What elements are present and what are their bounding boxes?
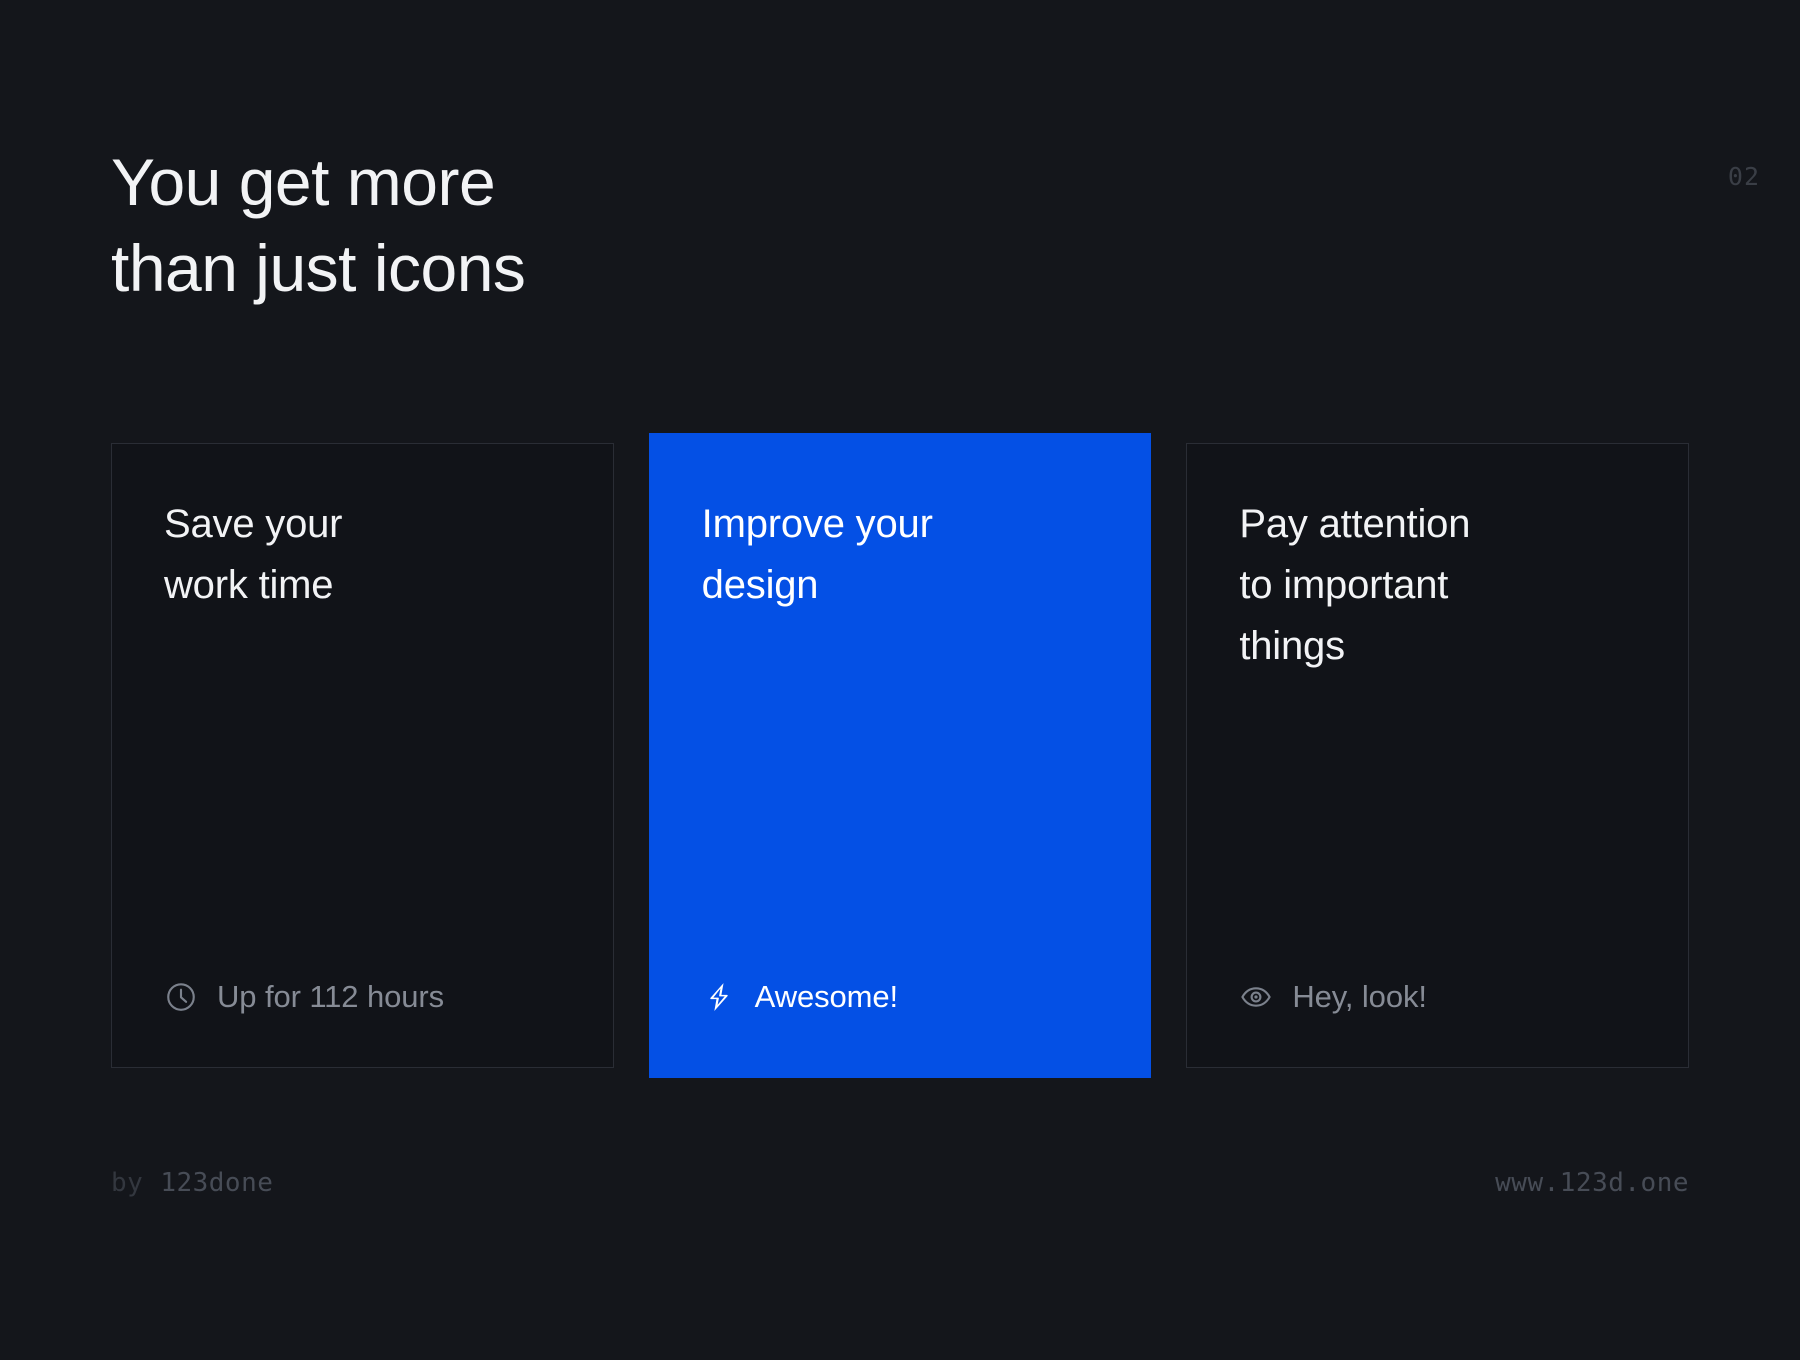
feature-card-list: Save your work time Up for 112 hours Imp… xyxy=(111,443,1689,1068)
card-footer: Awesome! xyxy=(702,979,1101,1015)
website-url[interactable]: www.123d.one xyxy=(1495,1168,1689,1198)
feature-card-improve-your-design[interactable]: Improve your design Awesome! xyxy=(649,433,1152,1078)
page-number: 02 xyxy=(1640,162,1760,191)
credit-prefix: by xyxy=(111,1168,143,1198)
feature-card-pay-attention-to-important-things[interactable]: Pay attention to important things Hey, l… xyxy=(1186,443,1689,1068)
card-title: Pay attention to important things xyxy=(1239,494,1638,676)
card-title: Improve your design xyxy=(702,494,1101,616)
page-title: You get more than just icons xyxy=(111,140,525,312)
feature-card-save-your-work-time[interactable]: Save your work time Up for 112 hours xyxy=(111,443,614,1068)
card-footer-label: Awesome! xyxy=(755,979,898,1015)
card-footer-label: Up for 112 hours xyxy=(217,979,444,1015)
credit: by 123done xyxy=(111,1168,273,1198)
slide-footer: by 123done www.123d.one xyxy=(111,1168,1689,1198)
card-footer: Hey, look! xyxy=(1239,979,1638,1015)
clock-icon xyxy=(164,980,198,1014)
credit-brand: 123done xyxy=(160,1168,273,1198)
card-footer-label: Hey, look! xyxy=(1292,979,1427,1015)
card-title: Save your work time xyxy=(164,494,563,616)
eye-icon xyxy=(1239,980,1273,1014)
lightning-bolt-icon xyxy=(702,980,736,1014)
slide: 02 You get more than just icons Save you… xyxy=(0,0,1800,1360)
card-footer: Up for 112 hours xyxy=(164,979,563,1015)
